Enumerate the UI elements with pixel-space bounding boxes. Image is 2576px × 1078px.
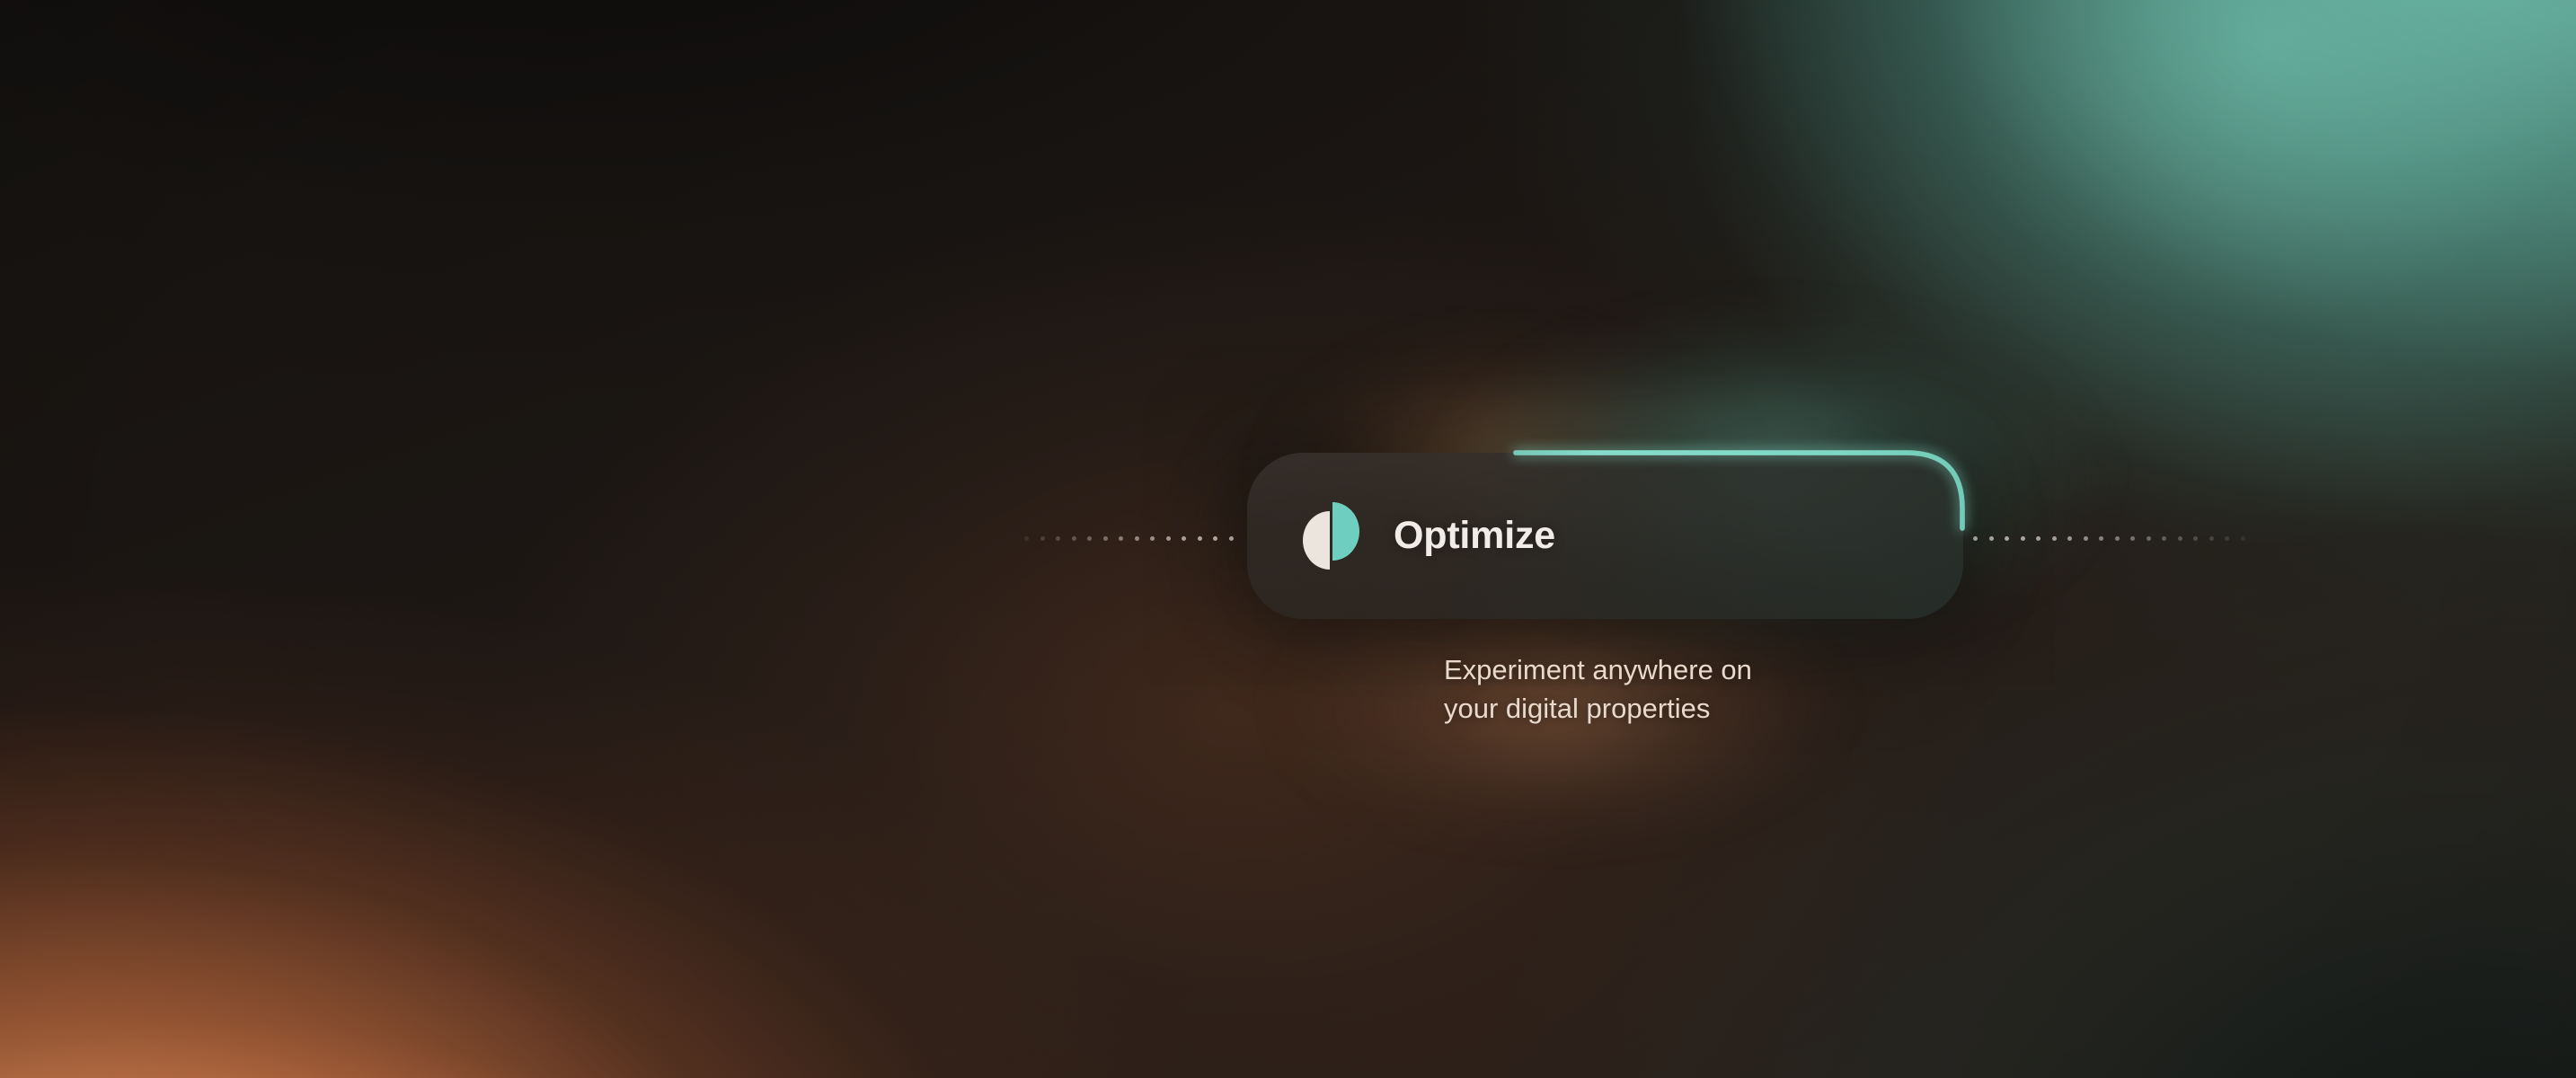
dotted-connector-left (1024, 536, 1240, 542)
connector-dot (1150, 536, 1155, 541)
connector-dot (2005, 536, 2009, 541)
split-circle-logo-icon (1303, 502, 1359, 570)
card-content: Optimize (1247, 453, 1963, 619)
connector-dot (1119, 536, 1123, 541)
connector-dot (2099, 536, 2103, 541)
connector-dot (1056, 536, 1060, 541)
connector-dot (2084, 536, 2088, 541)
connector-dot (2115, 536, 2120, 541)
connector-dot (2241, 536, 2245, 541)
connector-dot (2036, 536, 2040, 541)
subtitle-line-2: your digital properties (1444, 690, 1911, 729)
connector-dot (2162, 536, 2166, 541)
connector-dot (1198, 536, 1202, 541)
connector-dot (1087, 536, 1092, 541)
connector-dot (1989, 536, 1994, 541)
connector-dot (2147, 536, 2151, 541)
connector-dot (1182, 536, 1186, 541)
connector-dot (2067, 536, 2072, 541)
subtitle-line-1: Experiment anywhere on (1444, 651, 1911, 690)
connector-dot (1040, 536, 1045, 541)
connector-dot (1103, 536, 1108, 541)
optimize-card[interactable]: Optimize (1247, 453, 1963, 619)
card-title: Optimize (1394, 517, 1555, 555)
connector-dot (1973, 536, 1978, 541)
connector-dot (1024, 536, 1029, 541)
connector-dot (1213, 536, 1217, 541)
card-subtitle: Experiment anywhere on your digital prop… (1444, 651, 1911, 729)
connector-dot (2178, 536, 2182, 541)
logo-left-half-icon (1303, 511, 1330, 570)
connector-dot (2052, 536, 2057, 541)
connector-dot (2130, 536, 2135, 541)
connector-dot (2209, 536, 2214, 541)
connector-dot (1072, 536, 1076, 541)
connector-dot (1166, 536, 1171, 541)
hero-banner: Optimize Experime (0, 0, 2576, 1078)
connector-dot (2193, 536, 2198, 541)
connector-dot (1135, 536, 1139, 541)
connector-dot (2021, 536, 2025, 541)
dotted-connector-right (1973, 536, 2261, 542)
logo-right-half-icon (1332, 502, 1359, 561)
connector-dot (2225, 536, 2229, 541)
connector-dot (1229, 536, 1234, 541)
